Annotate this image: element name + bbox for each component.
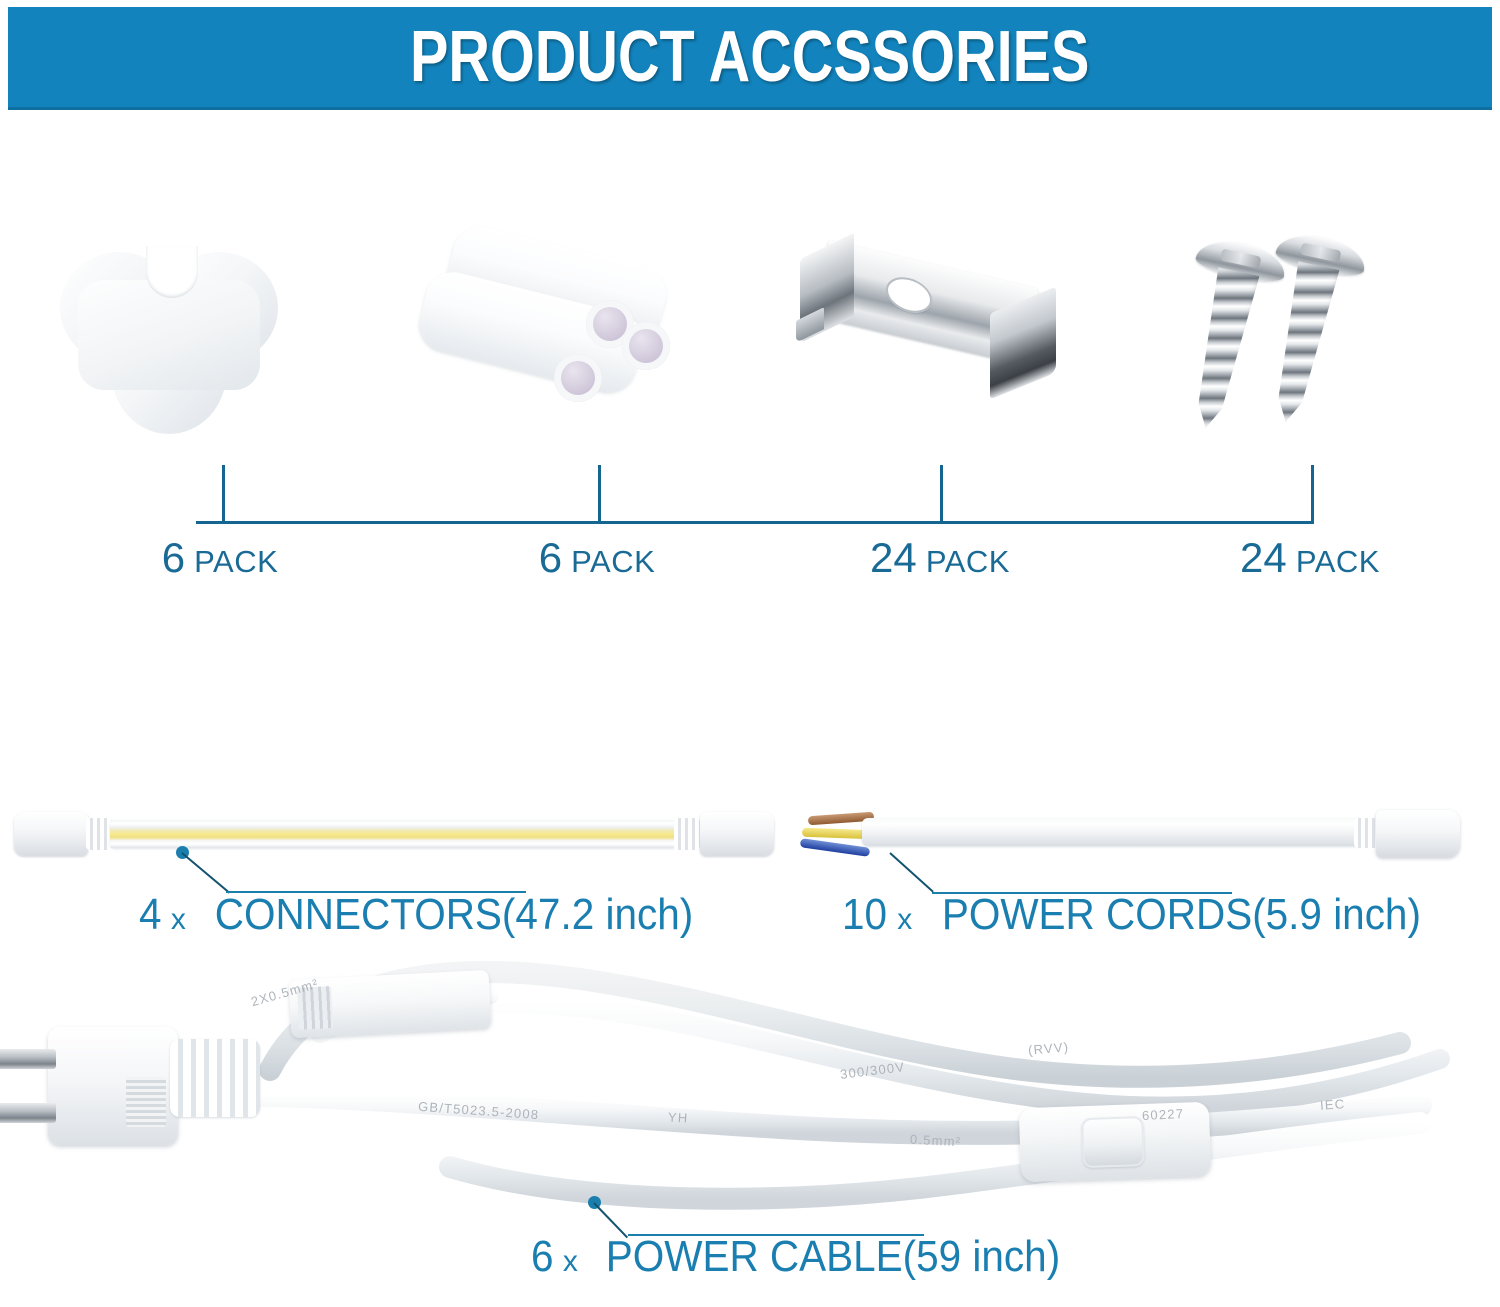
plug-prong <box>0 1049 56 1069</box>
power-cord-multiplier: x <box>897 903 912 936</box>
pack-unit: PACK <box>926 544 1010 579</box>
pack-label-tube-connector: 6 PACK <box>432 534 762 582</box>
part-cell-metal-clip <box>780 230 1110 480</box>
part-cell-trefoil-clip <box>30 230 360 480</box>
pack-unit: PACK <box>194 544 278 579</box>
power-cable-multiplier: x <box>563 1245 578 1278</box>
pack-quantity: 24 <box>870 534 917 581</box>
plug-prong <box>0 1103 56 1123</box>
connector-text: CONNECTORS(47.2 inch) <box>215 890 693 940</box>
metal-mounting-clip-icon <box>780 230 1110 470</box>
page-title: PRODUCT ACCSSORIES <box>410 21 1090 93</box>
ac-plug <box>48 1027 178 1145</box>
power-cord-text: POWER CORDS(5.9 inch) <box>941 890 1420 940</box>
cable-marking: 60227 <box>1142 1106 1185 1123</box>
pack-unit: PACK <box>571 544 655 579</box>
power-cord-label: 10 x POWER CORDS(5.9 inch) <box>840 890 1441 940</box>
pack-label-trefoil-clip: 6 PACK <box>55 534 385 582</box>
pack-quantity: 6 <box>539 534 562 581</box>
parts-row <box>0 230 1500 480</box>
connector-quantity: 4 <box>139 890 162 940</box>
plug-strain-relief <box>170 1039 260 1117</box>
power-cable-quantity: 6 <box>531 1232 554 1282</box>
power-cord-quantity: 10 <box>842 890 887 940</box>
three-lobe-clip-icon <box>30 230 360 470</box>
pack-quantity: 24 <box>1240 534 1287 581</box>
screws-icon <box>1140 230 1470 470</box>
power-cable-label: 6 x POWER CABLE(59 inch) <box>530 1232 1080 1282</box>
power-cable-text: POWER CABLE(59 inch) <box>606 1232 1060 1282</box>
connector-multiplier: x <box>171 903 186 936</box>
connector-cable-label: 4 x CONNECTORS(47.2 inch) <box>138 890 714 940</box>
pack-label-screws: 24 PACK <box>1145 534 1475 582</box>
part-cell-tube-connector <box>400 230 730 480</box>
cable-marking: YH <box>668 1109 689 1125</box>
twin-tube-connector-icon <box>400 230 730 470</box>
power-cable-with-switch-icon: GB/T5023.5-2008 YH 60227 IEC 300/300V (R… <box>20 955 1480 1225</box>
wire-blue <box>800 838 871 857</box>
cable-marking: 0.5mm² <box>910 1132 962 1150</box>
cable-marking: IEC <box>1320 1096 1346 1113</box>
pack-label-metal-clip: 24 PACK <box>775 534 1105 582</box>
pack-unit: PACK <box>1296 544 1380 579</box>
header-banner: PRODUCT ACCSSORIES <box>8 7 1492 110</box>
pack-quantity: 6 <box>162 534 185 581</box>
cable-socket-connector <box>289 970 492 1038</box>
part-cell-screws <box>1140 230 1470 480</box>
switch-rocker[interactable] <box>1081 1116 1145 1168</box>
